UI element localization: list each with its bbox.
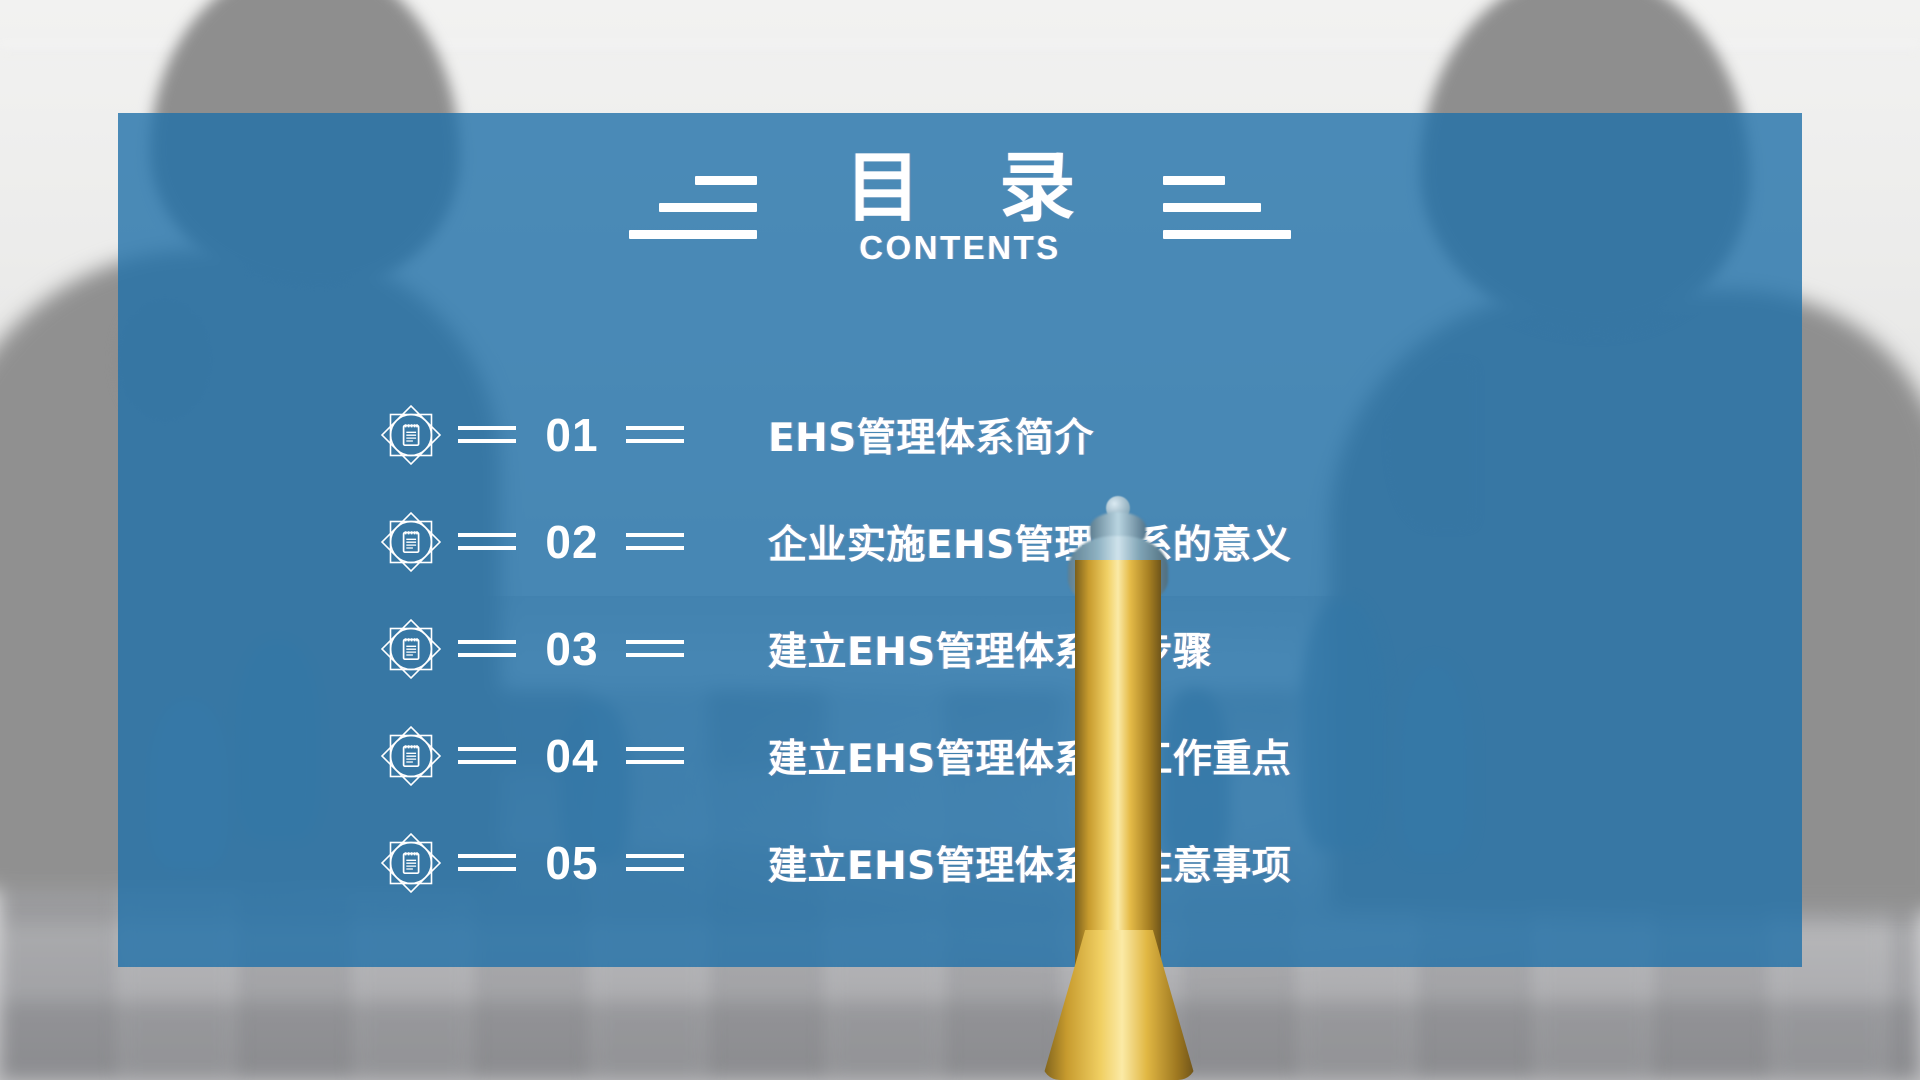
slide-header: 目 录 CONTENTS	[118, 149, 1802, 267]
item-number: 02	[532, 515, 612, 569]
contents-list: 01 EHS管理体系简介	[380, 381, 1760, 916]
separator-left	[458, 747, 516, 764]
deco-line-long	[1163, 230, 1291, 239]
list-item[interactable]: 04 建立EHS管理体系的工作重点	[380, 702, 1760, 809]
right-decoration	[1163, 176, 1291, 239]
chess-king-stem	[1075, 560, 1161, 990]
notepad-badge-icon	[380, 404, 442, 466]
separator-right	[626, 426, 684, 443]
deco-line-medium	[659, 203, 757, 212]
deco-line-short	[1163, 176, 1225, 185]
deco-line-medium	[1163, 203, 1261, 212]
list-item[interactable]: 05 建立EHS管理体系的注意事项	[380, 809, 1760, 916]
item-number: 04	[532, 729, 612, 783]
notepad-badge-icon	[380, 832, 442, 894]
item-label[interactable]: 建立EHS管理体系的注意事项	[768, 835, 1291, 891]
deco-line-long	[629, 230, 757, 239]
notepad-badge-icon	[380, 511, 442, 573]
list-item[interactable]: 03 建立EHS管理体系的步骤	[380, 595, 1760, 702]
item-number: 05	[532, 836, 612, 890]
page-subtitle: CONTENTS	[819, 229, 1101, 267]
separator-right	[626, 747, 684, 764]
notepad-badge-icon	[380, 725, 442, 787]
item-label[interactable]: 建立EHS管理体系的工作重点	[768, 728, 1291, 784]
left-decoration	[629, 176, 757, 239]
deco-line-short	[695, 176, 757, 185]
separator-right	[626, 854, 684, 871]
item-label[interactable]: 企业实施EHS管理体系的意义	[768, 514, 1291, 570]
item-label[interactable]: EHS管理体系简介	[768, 407, 1094, 463]
title-block: 目 录 CONTENTS	[819, 149, 1101, 267]
content-panel: 目 录 CONTENTS	[118, 113, 1802, 967]
separator-left	[458, 533, 516, 550]
item-number: 03	[532, 622, 612, 676]
separator-right	[626, 533, 684, 550]
separator-left	[458, 426, 516, 443]
item-number: 01	[532, 408, 612, 462]
page-title: 目 录	[819, 149, 1101, 227]
separator-right	[626, 640, 684, 657]
separator-left	[458, 640, 516, 657]
notepad-badge-icon	[380, 618, 442, 680]
list-item[interactable]: 01 EHS管理体系简介	[380, 381, 1760, 488]
slide-canvas: 目 录 CONTENTS	[0, 0, 1920, 1080]
separator-left	[458, 854, 516, 871]
